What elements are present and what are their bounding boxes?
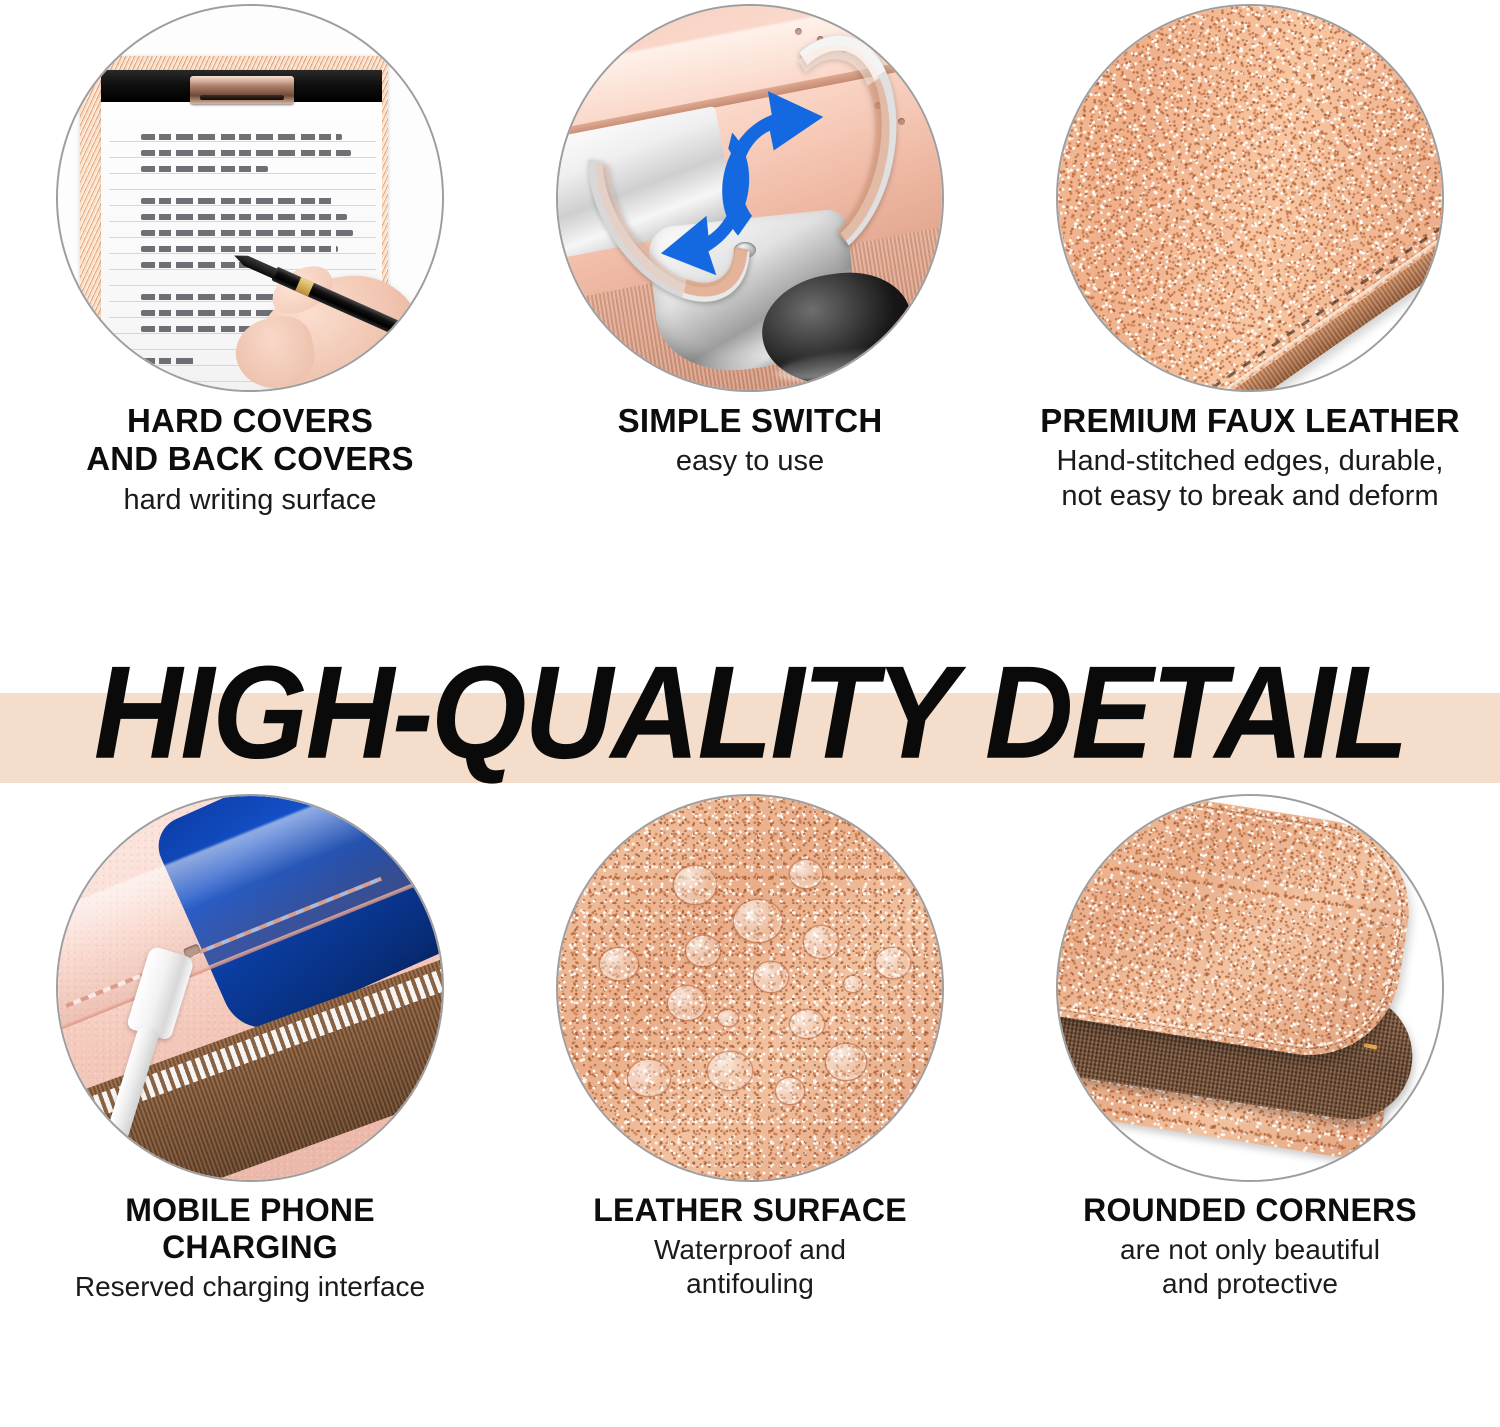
feature-caption-mobile-phone-charging: MOBILE PHONE CHARGING Reserved charging …	[15, 1192, 485, 1304]
feature-subtitle: Waterproof and antifouling	[515, 1233, 985, 1300]
feature-image-simple-switch	[556, 4, 944, 392]
glitter-texture	[1058, 6, 1442, 390]
charging-port-illustration	[58, 796, 442, 1180]
water-droplet	[686, 936, 720, 966]
feature-title: LEATHER SURFACE	[515, 1192, 985, 1229]
feature-subtitle: Hand-stitched edges, durable, not easy t…	[1015, 444, 1485, 514]
feature-card-premium-faux-leather: PREMIUM FAUX LEATHER Hand-stitched edges…	[1000, 0, 1500, 640]
water-droplet	[804, 926, 838, 958]
feature-image-mobile-phone-charging	[56, 794, 444, 1182]
feature-card-rounded-corners: ROUNDED CORNERS are not only beautiful a…	[1000, 790, 1500, 1427]
water-droplet	[826, 1044, 866, 1080]
feature-card-leather-surface: LEATHER SURFACE Waterproof and antifouli…	[500, 790, 1000, 1427]
water-droplet	[628, 1060, 670, 1096]
feature-image-rounded-corners	[1056, 794, 1444, 1182]
feature-title: MOBILE PHONE CHARGING	[15, 1192, 485, 1266]
glitter-texture	[558, 796, 942, 1180]
feature-card-simple-switch: SIMPLE SWITCH easy to use	[500, 0, 1000, 640]
clipboard-notepad-illustration	[58, 6, 442, 390]
feature-title: SIMPLE SWITCH	[515, 402, 985, 440]
glitter-leather-slab	[1058, 6, 1442, 390]
hand-holding-pen	[226, 244, 442, 390]
infographic-page: HARD COVERS AND BACK COVERS hard writing…	[0, 0, 1500, 1427]
clip-metal-lever	[190, 76, 294, 104]
feature-subtitle: are not only beautiful and protective	[1015, 1233, 1485, 1300]
waterproof-surface-illustration	[558, 796, 942, 1180]
feature-title: ROUNDED CORNERS	[1015, 1192, 1485, 1229]
feature-caption-simple-switch: SIMPLE SWITCH easy to use	[515, 402, 985, 479]
water-droplet	[844, 976, 862, 992]
feature-caption-leather-surface: LEATHER SURFACE Waterproof and antifouli…	[515, 1192, 985, 1300]
feature-image-leather-surface	[556, 794, 944, 1182]
faux-leather-illustration	[1058, 6, 1442, 390]
feature-card-hard-covers: HARD COVERS AND BACK COVERS hard writing…	[0, 0, 500, 640]
rounded-corner-illustration	[1058, 796, 1442, 1180]
feature-subtitle: Reserved charging interface	[15, 1270, 485, 1304]
feature-title: HARD COVERS AND BACK COVERS	[15, 402, 485, 479]
feature-row-top: HARD COVERS AND BACK COVERS hard writing…	[0, 0, 1500, 640]
feature-caption-hard-covers: HARD COVERS AND BACK COVERS hard writing…	[15, 402, 485, 517]
feature-title: PREMIUM FAUX LEATHER	[1015, 402, 1485, 440]
water-droplet	[776, 1078, 804, 1104]
blue-rotation-arrows	[558, 6, 942, 390]
feature-card-mobile-phone-charging: MOBILE PHONE CHARGING Reserved charging …	[0, 790, 500, 1427]
feature-subtitle: hard writing surface	[15, 483, 485, 518]
clipboard-clip	[101, 70, 382, 102]
water-droplet	[790, 1010, 824, 1038]
feature-image-hard-covers	[56, 4, 444, 392]
banner-band	[0, 693, 1500, 783]
binder-ring-illustration	[558, 6, 942, 390]
water-droplet	[790, 860, 822, 888]
feature-caption-premium-faux-leather: PREMIUM FAUX LEATHER Hand-stitched edges…	[1015, 402, 1485, 514]
feature-subtitle: easy to use	[515, 444, 985, 479]
feature-image-premium-faux-leather	[1056, 4, 1444, 392]
water-droplet	[668, 986, 706, 1020]
water-droplet	[734, 900, 782, 942]
feature-row-bottom: MOBILE PHONE CHARGING Reserved charging …	[0, 790, 1500, 1427]
water-droplet	[674, 866, 716, 904]
water-droplet	[876, 948, 910, 978]
feature-caption-rounded-corners: ROUNDED CORNERS are not only beautiful a…	[1015, 1192, 1485, 1300]
water-droplet	[600, 948, 638, 980]
water-droplet	[708, 1052, 752, 1090]
water-droplet	[718, 1010, 738, 1026]
water-droplet	[754, 962, 788, 992]
